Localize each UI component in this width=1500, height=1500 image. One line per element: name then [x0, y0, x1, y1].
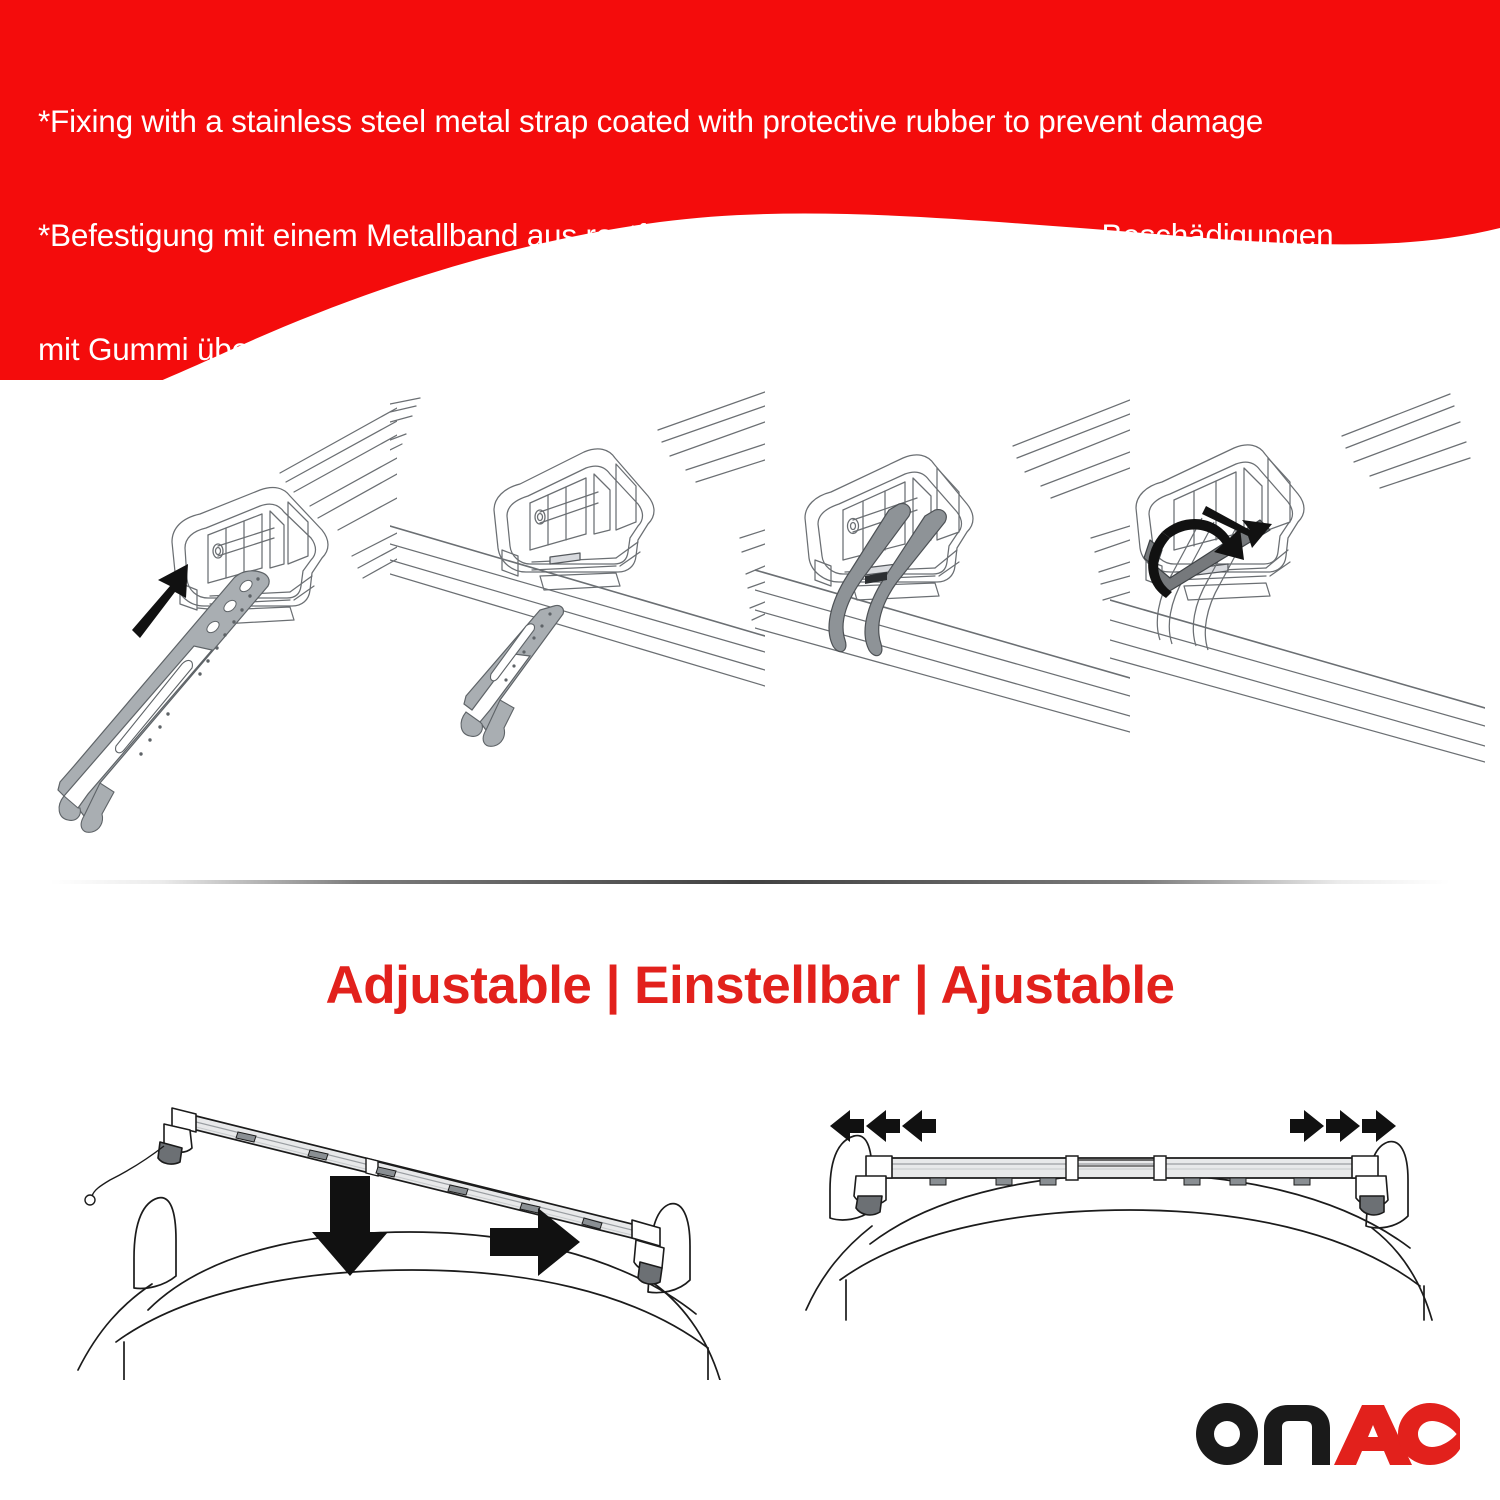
page-root: *Fixing with a stainless steel metal str…	[0, 0, 1500, 1500]
installation-steps-row	[0, 378, 1500, 878]
step-3-strap-wrapped	[755, 378, 1130, 878]
crossbar-width-adjust-diagram	[800, 1080, 1460, 1380]
arrow-right-triple-icon	[1290, 1110, 1396, 1142]
banner-line-de-2: mit Gummi überzogen ist	[38, 330, 1468, 368]
step-4-tighten-with-allen-key	[1110, 378, 1485, 878]
arrow-down-icon	[312, 1176, 388, 1276]
crossbar-mounting-diagram	[60, 1080, 760, 1380]
logo-letter-c	[1398, 1403, 1460, 1465]
adjustable-heading: Adjustable | Einstellbar | Ajustable	[0, 955, 1500, 1016]
arrow-left-triple-icon	[830, 1110, 936, 1142]
banner-line-en: *Fixing with a stainless steel metal str…	[38, 102, 1468, 140]
omac-logo	[1192, 1404, 1462, 1464]
bottom-diagrams-row	[0, 1080, 1500, 1380]
logo-letter-o	[1196, 1403, 1258, 1465]
red-banner: *Fixing with a stainless steel metal str…	[0, 0, 1500, 380]
step-2-strap-under-rail	[390, 378, 765, 878]
banner-line-de-1: *Befestigung mit einem Metallband aus ro…	[38, 216, 1468, 254]
section-divider	[50, 880, 1450, 884]
logo-letter-m	[1264, 1405, 1330, 1465]
step-1-insert-strap	[22, 378, 397, 878]
